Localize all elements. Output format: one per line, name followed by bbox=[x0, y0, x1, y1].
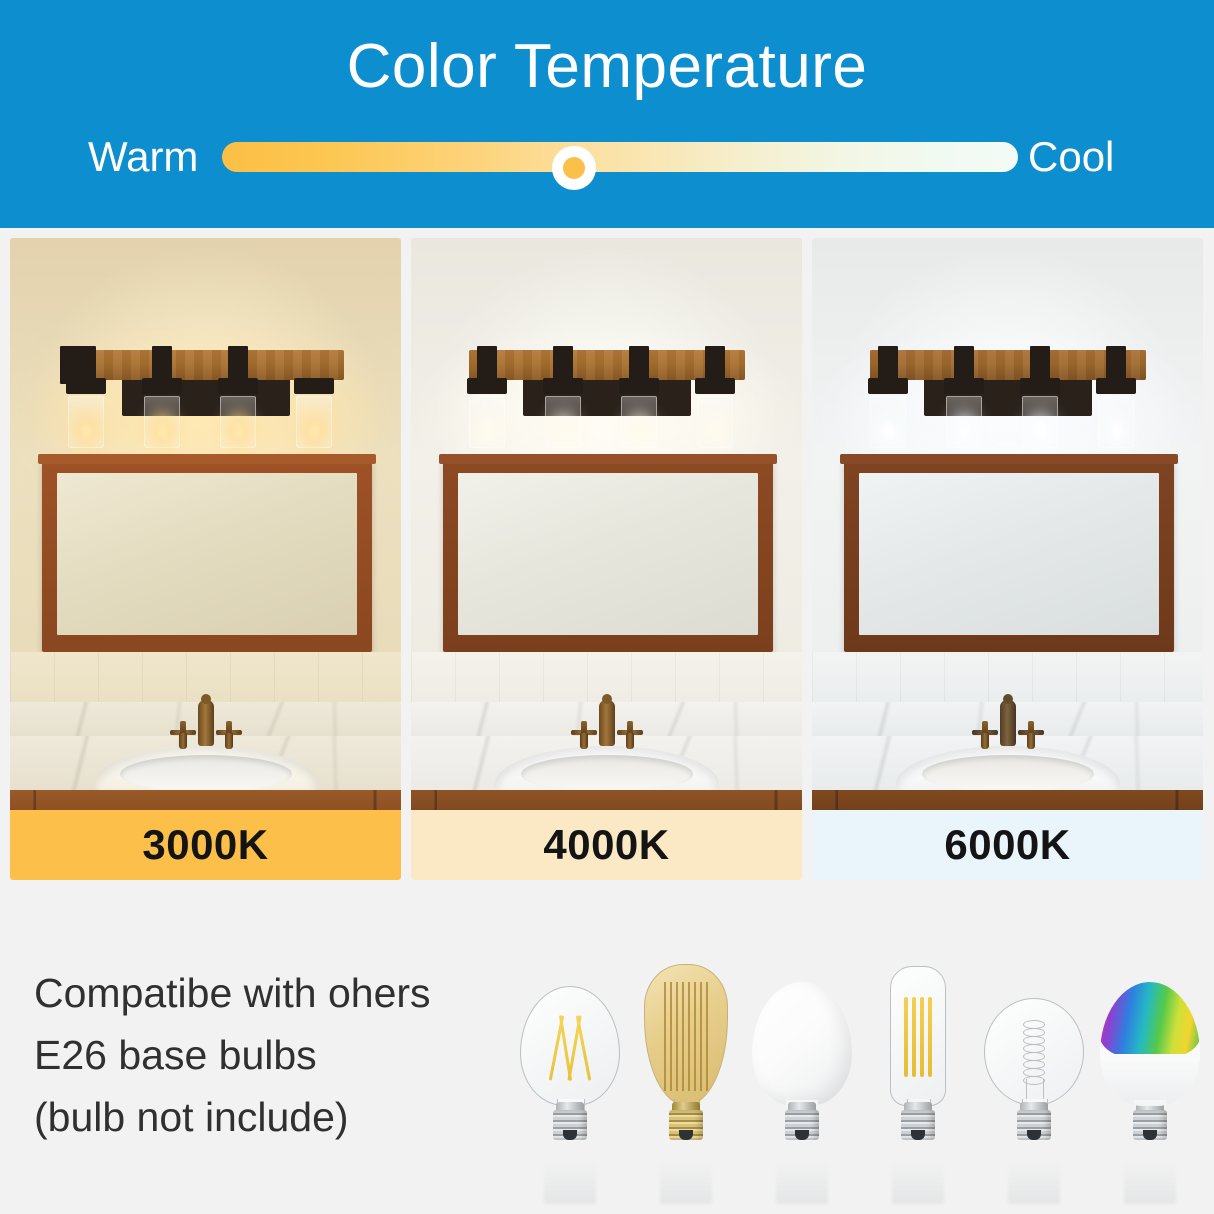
a19-clear-filament-bulb bbox=[520, 908, 620, 1158]
vanity-light-fixture bbox=[862, 334, 1154, 446]
vanity-cabinet bbox=[411, 790, 802, 810]
bulb-reflection bbox=[544, 1158, 596, 1204]
bulb-filament-glow bbox=[884, 423, 893, 439]
fixture-socket-cap bbox=[218, 378, 258, 394]
bulb-filament-glow bbox=[635, 423, 644, 439]
glass-shade bbox=[946, 396, 982, 448]
e26-base bbox=[785, 1102, 819, 1144]
a19-frosted-led-bulb bbox=[752, 908, 852, 1158]
slider-knob[interactable] bbox=[552, 146, 596, 190]
bronze-faucet bbox=[571, 700, 643, 752]
fixture-wood-beam bbox=[870, 350, 1146, 380]
faucet-handle-left bbox=[170, 720, 196, 746]
bulb-filament-glow bbox=[234, 423, 243, 439]
temperature-value: 4000K bbox=[543, 822, 669, 868]
st64-edison-amber-bulb bbox=[636, 908, 736, 1158]
color-temperature-slider[interactable]: Warm Cool bbox=[0, 128, 1214, 188]
mirror-crown-molding bbox=[38, 454, 376, 464]
glass-shade bbox=[870, 396, 906, 448]
faucet-spout bbox=[198, 700, 214, 746]
bulb-filament-glow bbox=[1036, 423, 1045, 439]
panel-caption-4000k: 4000K bbox=[411, 810, 802, 880]
sink-bowl bbox=[521, 755, 693, 793]
slider-knob-core bbox=[563, 157, 585, 179]
base-tip bbox=[1027, 1130, 1041, 1140]
fixture-socket-cap bbox=[1020, 378, 1060, 394]
bulb-reflection bbox=[1124, 1158, 1176, 1204]
base-tip bbox=[911, 1130, 925, 1140]
faucet-handle-right bbox=[617, 720, 643, 746]
compatibility-text: Compatibe with ohers E26 base bulbs (bul… bbox=[34, 962, 504, 1148]
glass-shade bbox=[469, 396, 505, 448]
glass-shade bbox=[220, 396, 256, 448]
filament-x bbox=[553, 1015, 587, 1081]
fixture-socket-cap bbox=[868, 378, 908, 394]
mirror-glass bbox=[859, 473, 1159, 635]
temperature-comparison-strip: 3000K bbox=[10, 238, 1204, 880]
filament-spiral bbox=[1023, 1020, 1045, 1086]
bulb-filament-glow bbox=[559, 423, 568, 439]
rgb-smart-color-bulb bbox=[1100, 908, 1200, 1158]
temperature-value: 6000K bbox=[944, 822, 1070, 868]
fixture-socket-cap bbox=[66, 378, 106, 394]
bulb-reflection bbox=[892, 1158, 944, 1204]
wood-framed-mirror bbox=[42, 460, 372, 652]
header-banner: Color Temperature Warm Cool bbox=[0, 0, 1214, 228]
glass-shade bbox=[545, 396, 581, 448]
bulb-filament-glow bbox=[158, 423, 167, 439]
bronze-faucet bbox=[170, 700, 242, 752]
faucet-handle-left bbox=[571, 720, 597, 746]
base-tip bbox=[679, 1130, 693, 1140]
faucet-handle-right bbox=[1018, 720, 1044, 746]
faucet-handle-left bbox=[972, 720, 998, 746]
bulb-glass bbox=[984, 998, 1084, 1106]
panel-6000k: 6000K bbox=[812, 238, 1203, 880]
e26-base bbox=[553, 1102, 587, 1144]
fixture-socket-cap bbox=[467, 378, 507, 394]
fixture-socket-cap bbox=[294, 378, 334, 394]
fixture-wood-beam bbox=[68, 350, 344, 380]
base-tip bbox=[1143, 1130, 1157, 1140]
bulb-reflection bbox=[1008, 1158, 1060, 1204]
wood-framed-mirror bbox=[844, 460, 1174, 652]
glass-shade bbox=[1098, 396, 1134, 448]
glass-shade bbox=[68, 396, 104, 448]
bulb-lower-body bbox=[1100, 1054, 1200, 1106]
vanity-light-fixture bbox=[60, 334, 352, 446]
t45-tubular-filament-bulb bbox=[868, 908, 968, 1158]
bulb-filament-glow bbox=[483, 423, 492, 439]
glass-shade bbox=[697, 396, 733, 448]
vanity-cabinet bbox=[10, 790, 401, 810]
page-title: Color Temperature bbox=[0, 32, 1214, 102]
panel-caption-6000k: 6000K bbox=[812, 810, 1203, 880]
wood-framed-mirror bbox=[443, 460, 773, 652]
fixture-socket-cap bbox=[695, 378, 735, 394]
e26-base bbox=[901, 1102, 935, 1144]
faucet-spout bbox=[599, 700, 615, 746]
filament-vertical bbox=[904, 997, 932, 1077]
bulb-filament-glow bbox=[1112, 423, 1121, 439]
bulb-glass bbox=[520, 986, 620, 1106]
fixture-wood-beam bbox=[469, 350, 745, 380]
bathroom-photo-3000k bbox=[10, 238, 401, 810]
fixture-socket-cap bbox=[543, 378, 583, 394]
bulb-glass bbox=[1100, 982, 1200, 1106]
mirror-crown-molding bbox=[840, 454, 1178, 464]
compat-line-2: E26 base bulbs bbox=[34, 1024, 504, 1086]
slider-cool-label: Cool bbox=[1028, 128, 1114, 186]
bulb-glass bbox=[644, 964, 728, 1106]
slider-warm-label: Warm bbox=[88, 128, 198, 186]
panel-caption-3000k: 3000K bbox=[10, 810, 401, 880]
bathroom-photo-6000k bbox=[812, 238, 1203, 810]
fixture-socket-cap bbox=[142, 378, 182, 394]
bulb-filament-glow bbox=[82, 423, 91, 439]
rgb-color-dome bbox=[1100, 982, 1200, 1059]
glass-shade bbox=[621, 396, 657, 448]
compat-line-3: (bulb not include) bbox=[34, 1086, 504, 1148]
sink-bowl bbox=[120, 755, 292, 793]
panel-3000k: 3000K bbox=[10, 238, 401, 880]
bulb-filament-glow bbox=[310, 423, 319, 439]
e26-base bbox=[669, 1102, 703, 1144]
fixture-socket-cap bbox=[1096, 378, 1136, 394]
e26-base bbox=[1017, 1102, 1051, 1144]
fixture-socket-cap bbox=[944, 378, 984, 394]
faucet-handle-right bbox=[216, 720, 242, 746]
bulb-glass bbox=[752, 982, 852, 1106]
mirror-glass bbox=[458, 473, 758, 635]
slider-track[interactable] bbox=[222, 142, 1018, 172]
bulb-glass bbox=[890, 966, 946, 1106]
filament-cage bbox=[664, 982, 708, 1091]
e26-base bbox=[1133, 1102, 1167, 1144]
compatible-bulbs-row bbox=[520, 898, 1200, 1158]
glass-shade bbox=[296, 396, 332, 448]
bulb-reflection bbox=[776, 1158, 828, 1204]
bulb-filament-glow bbox=[711, 423, 720, 439]
bronze-faucet bbox=[972, 700, 1044, 752]
glass-shade bbox=[144, 396, 180, 448]
bathroom-photo-4000k bbox=[411, 238, 802, 810]
vanity-cabinet bbox=[812, 790, 1203, 810]
faucet-spout bbox=[1000, 700, 1016, 746]
bulb-reflection bbox=[660, 1158, 712, 1204]
compatibility-section: Compatibe with ohers E26 base bulbs (bul… bbox=[0, 880, 1214, 1214]
vanity-light-fixture bbox=[461, 334, 753, 446]
base-tip bbox=[563, 1130, 577, 1140]
sink-bowl bbox=[922, 755, 1094, 793]
panel-4000k: 4000K bbox=[411, 238, 802, 880]
base-tip bbox=[795, 1130, 809, 1140]
temperature-value: 3000K bbox=[142, 822, 268, 868]
mirror-crown-molding bbox=[439, 454, 777, 464]
bulb-filament-glow bbox=[960, 423, 969, 439]
glass-shade bbox=[1022, 396, 1058, 448]
mirror-glass bbox=[57, 473, 357, 635]
compat-line-1: Compatibe with ohers bbox=[34, 962, 504, 1024]
g25-globe-spiral-bulb bbox=[984, 908, 1084, 1158]
fixture-socket-cap bbox=[619, 378, 659, 394]
